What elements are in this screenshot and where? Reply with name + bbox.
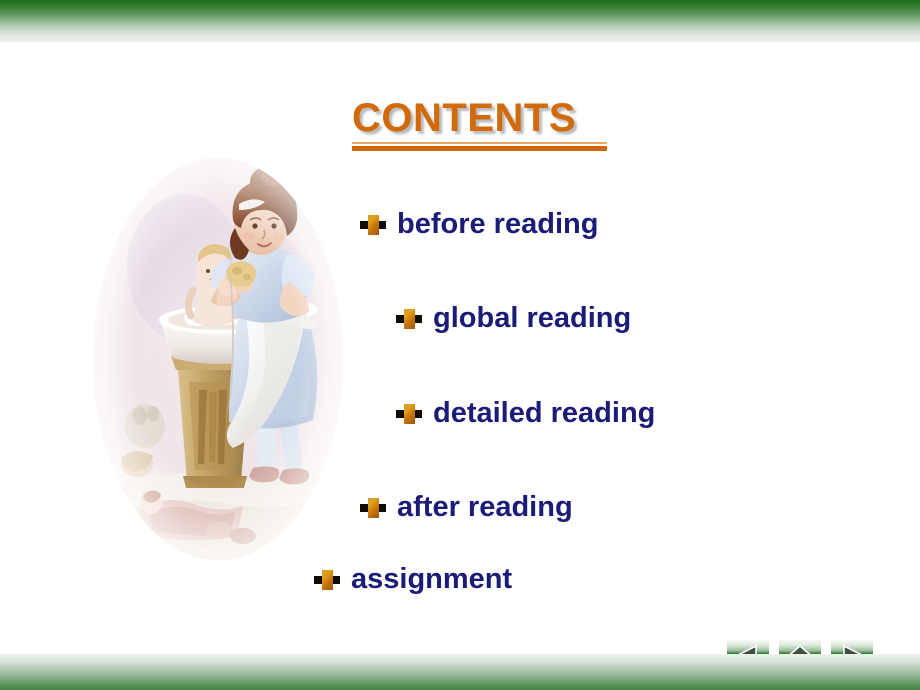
cross-bullet-icon	[396, 309, 422, 329]
contents-item-label: detailed reading	[433, 399, 655, 428]
title-underline-thick	[352, 146, 607, 151]
illustration-edge-arc	[218, 262, 234, 412]
presentation-slide: CONTENTS before reading global reading d…	[0, 0, 920, 690]
contents-item-label: assignment	[351, 565, 512, 594]
contents-item-label: global reading	[433, 304, 631, 333]
bottom-decorative-bar	[0, 654, 920, 690]
contents-item-after-reading[interactable]: after reading	[360, 493, 573, 522]
page-title: CONTENTS	[352, 98, 607, 139]
slide-title-block: CONTENTS	[352, 98, 607, 151]
cross-bullet-icon	[396, 404, 422, 424]
contents-item-label: before reading	[397, 210, 598, 239]
contents-item-before-reading[interactable]: before reading	[360, 210, 598, 239]
top-decorative-bar	[0, 0, 920, 42]
contents-item-detailed-reading[interactable]: detailed reading	[396, 399, 655, 428]
contents-item-global-reading[interactable]: global reading	[396, 304, 631, 333]
contents-item-assignment[interactable]: assignment	[314, 565, 512, 594]
contents-item-label: after reading	[397, 493, 573, 522]
cross-bullet-icon	[360, 215, 386, 235]
cross-bullet-icon	[314, 570, 340, 590]
cross-bullet-icon	[360, 498, 386, 518]
title-underline-thin	[352, 142, 607, 144]
